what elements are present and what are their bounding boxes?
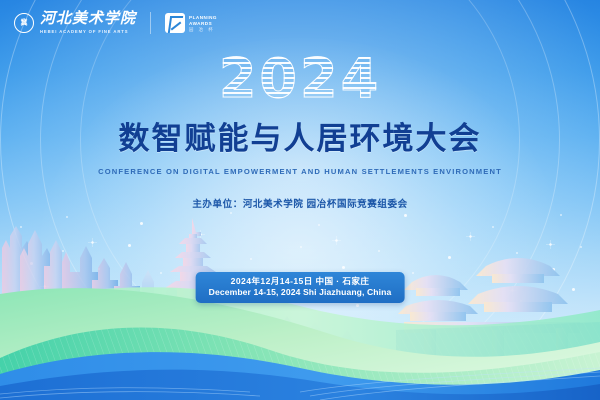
year-heading: 2024 xyxy=(219,52,381,106)
awards-name-en-line2: AWARDS xyxy=(189,21,217,26)
landscape-scene xyxy=(0,210,600,400)
academy-name-en: HEBEI ACADEMY OF FINE ARTS xyxy=(40,29,136,34)
page-subtitle: CONFERENCE ON DIGITAL EMPOWERMENT AND HU… xyxy=(0,167,600,177)
awards-name-en-line1: PLANNING xyxy=(189,15,217,20)
conference-poster: 冀 河北美术学院 HEBEI ACADEMY OF FINE ARTS PLAN… xyxy=(0,0,600,400)
header-logos: 冀 河北美术学院 HEBEI ACADEMY OF FINE ARTS PLAN… xyxy=(14,12,217,34)
planning-awards-mark-icon xyxy=(165,13,185,33)
academy-name-cn: 河北美术学院 xyxy=(40,12,136,27)
awards-name-cn: 园 冶 杯 xyxy=(189,27,217,32)
date-location-cn: 2024年12月14-15日 中国 · 石家庄 xyxy=(209,276,392,287)
organizers-line: 主办单位：河北美术学院 园冶杯国际竞赛组委会 xyxy=(0,199,600,211)
academy-seal-char: 冀 xyxy=(21,20,28,27)
academy-seal-icon: 冀 xyxy=(14,13,34,33)
page-title: 数智赋能与人居环境大会 xyxy=(0,122,600,156)
date-location-badge: 2024年12月14-15日 中国 · 石家庄 December 14-15, … xyxy=(196,272,405,303)
logo-planning-awards[interactable]: PLANNING AWARDS 园 冶 杯 xyxy=(165,13,217,33)
logo-divider xyxy=(150,12,151,34)
date-location-en: December 14-15, 2024 Shi Jiazhuang, Chin… xyxy=(209,287,392,298)
logo-hebei-academy[interactable]: 冀 河北美术学院 HEBEI ACADEMY OF FINE ARTS xyxy=(14,12,136,34)
